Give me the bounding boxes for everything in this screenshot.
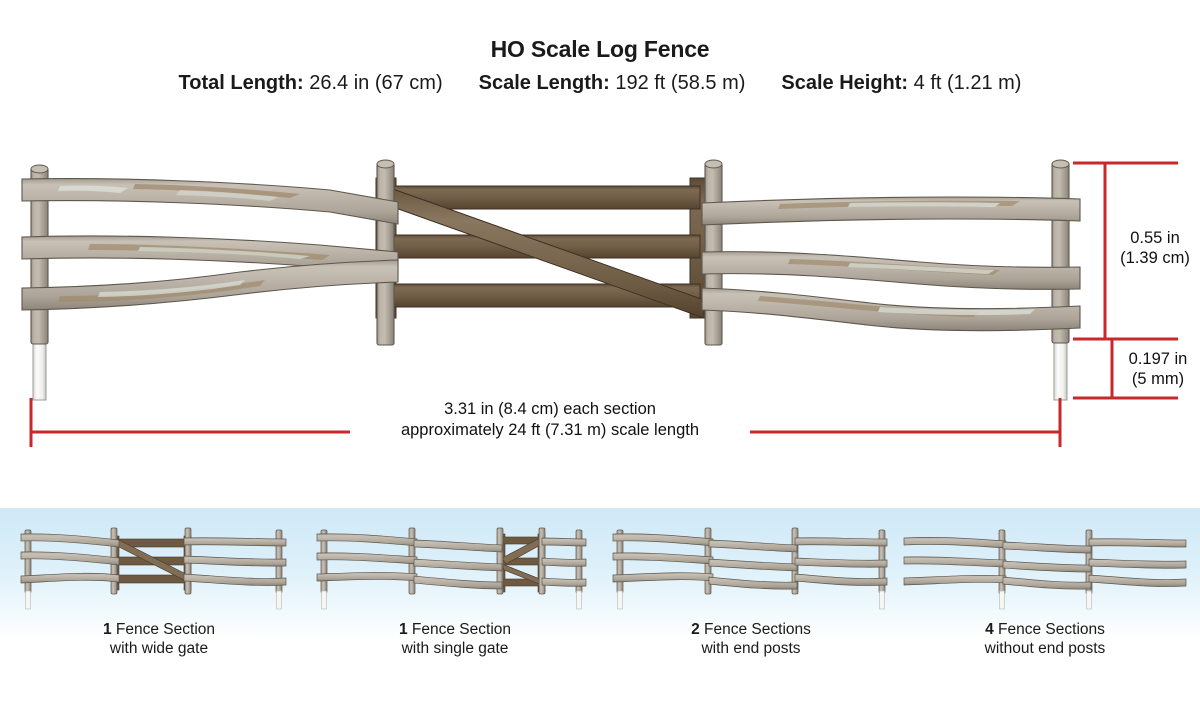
log-rail-group xyxy=(613,534,887,589)
variant-name: Fence Section xyxy=(408,621,511,638)
variant-strip: 1 Fence Section with wide gate 1 Fence S… xyxy=(0,508,1200,639)
log-rail-group xyxy=(904,537,1186,589)
dimension-pin-mm: (5 mm) xyxy=(1118,369,1198,389)
variant-thumbnail-wide-gate[interactable] xyxy=(14,508,304,618)
variant-caption-line2: with end posts xyxy=(641,640,861,659)
variant-name: Fence Section xyxy=(112,621,215,638)
variant-count: 1 xyxy=(103,621,112,638)
log-rail-group-right xyxy=(702,197,1080,331)
variant-caption-single-gate: 1 Fence Section with single gate xyxy=(345,621,565,658)
dimension-pin-inches: 0.197 in xyxy=(1118,349,1198,369)
log-rail-group-left xyxy=(22,179,398,310)
variant-caption-line1: 1 Fence Section xyxy=(49,621,269,640)
mounting-pin-group xyxy=(33,338,1067,400)
gate-icon xyxy=(376,178,710,318)
variant-caption-line1: 1 Fence Section xyxy=(345,621,565,640)
dimension-label-section: 3.31 in (8.4 cm) each section approximat… xyxy=(240,399,860,441)
dimension-height-inches: 0.55 in xyxy=(1112,228,1198,248)
variant-caption-line1: 4 Fence Sections xyxy=(935,621,1155,640)
dimension-height-cm: (1.39 cm) xyxy=(1112,248,1198,268)
variant-caption-line1: 2 Fence Sections xyxy=(641,621,861,640)
mounting-pin-icon xyxy=(33,338,46,400)
variant-count: 1 xyxy=(399,621,408,638)
variant-count: 2 xyxy=(691,621,700,638)
variant-caption-line2: with wide gate xyxy=(49,640,269,659)
variant-name: Fence Sections xyxy=(994,621,1105,638)
variant-caption-two-sections: 2 Fence Sections with end posts xyxy=(641,621,861,658)
log-rail-icon xyxy=(702,252,1080,290)
dimension-section-length: 3.31 in (8.4 cm) each section xyxy=(240,399,860,420)
dimension-label-height: 0.55 in (1.39 cm) xyxy=(1112,228,1198,268)
variant-thumbnail-four-sections[interactable] xyxy=(900,508,1190,618)
dimension-label-pin: 0.197 in (5 mm) xyxy=(1118,349,1198,389)
diagram-canvas: HO Scale Log Fence Total Length: 26.4 in… xyxy=(0,0,1200,709)
gate-icon xyxy=(498,534,545,592)
variant-caption-wide-gate: 1 Fence Section with wide gate xyxy=(49,621,269,658)
log-rail-icon xyxy=(22,179,398,224)
variant-caption-line2: with single gate xyxy=(345,640,565,659)
variant-thumbnail-two-sections[interactable] xyxy=(606,508,896,618)
variant-caption-four-sections: 4 Fence Sections without end posts xyxy=(935,621,1155,658)
dimension-section-scale: approximately 24 ft (7.31 m) scale lengt… xyxy=(240,420,860,441)
log-rail-group xyxy=(317,534,586,589)
variant-thumbnail-single-gate[interactable] xyxy=(310,508,600,618)
gate-icon xyxy=(112,536,191,590)
variant-count: 4 xyxy=(985,621,994,638)
variant-name: Fence Sections xyxy=(700,621,811,638)
variant-caption-line2: without end posts xyxy=(935,640,1155,659)
mounting-pin-icon xyxy=(1054,338,1067,400)
